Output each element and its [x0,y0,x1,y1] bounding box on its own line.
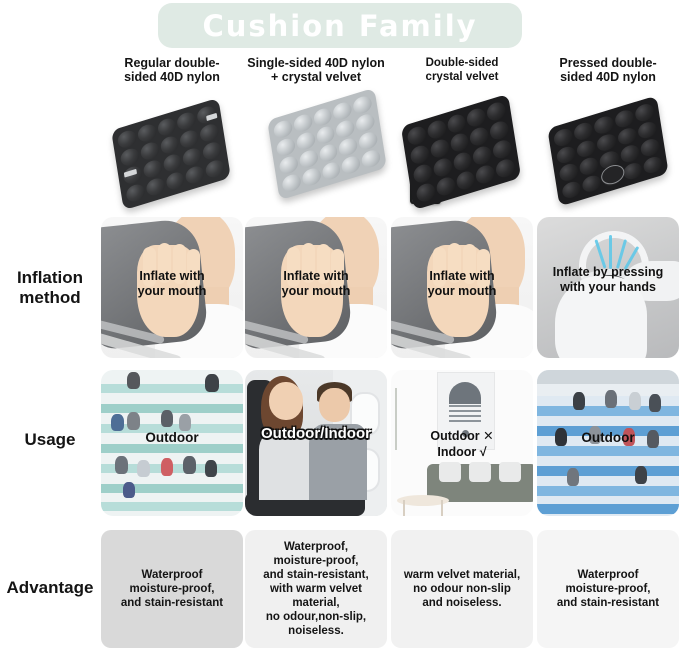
column-header-1-line2: sided 40D nylon [101,70,243,84]
column-header-3-line1: Double-sided [391,56,533,70]
usage-caption-1: Outdoor [101,430,243,445]
column-header-4-line1: Pressed double- [537,56,679,70]
usage-caption-3-line2: Indoor √ [391,444,533,460]
spectator [573,392,585,410]
spectator [649,394,661,412]
spectator [127,412,140,430]
advantage-cell-3: warm velvet material, no odour non-slip … [391,530,533,648]
title-banner: Cushion Family [158,3,522,48]
stripe-decor [449,405,481,425]
stadium-roof [537,370,679,384]
inflation-cell-3: Inflate with your mouth [391,217,533,358]
spectator [567,468,579,486]
row-label-inflation-method: Inflation method [0,268,100,308]
page-title: Cushion Family [202,9,477,43]
spectator [635,466,647,484]
cushion-image-4 [537,98,679,210]
advantage-text-1: Waterproof moisture-proof, and stain-res… [121,568,223,610]
sofa-cushion [469,462,491,482]
cushion-gray-velvet-icon [267,88,387,201]
column-header-4: Pressed double- sided 40D nylon [537,56,679,92]
row-label-usage: Usage [0,430,100,450]
cushion-image-3 [391,98,533,210]
spectator [161,458,173,476]
infographic-sheet: Cushion Family Regular double- sided 40D… [0,0,679,670]
spectator [179,414,191,431]
cushion-dark-charcoal-icon [111,98,231,211]
usage-caption-3: Outdoor ✕ Indoor √ [391,428,533,460]
cushion-image-2 [245,98,387,210]
row-label-inflation-line2: method [0,288,100,308]
bubble-grid [406,100,515,204]
usage-caption-2: Outdoor/Indoor [245,426,387,441]
spectator [123,482,135,498]
advantage-text-2: Waterproof, moisture-proof, and stain-re… [263,540,368,638]
row-label-advantage: Advantage [0,578,100,598]
column-header-2: Single-sided 40D nylon + crystal velvet [240,56,392,92]
spectator [137,460,150,477]
product-image-cell-2 [245,98,387,210]
inflation-cell-1: Inflate with your mouth [101,217,243,358]
cushion-black-icon [401,94,521,211]
usage-caption-4: Outdoor [537,430,679,445]
air-ray-icon [609,235,612,269]
inflation-caption-3: Inflate with your mouth [391,269,533,299]
spectator [127,372,140,389]
spectator [605,390,617,408]
column-header-2-line2: + crystal velvet [240,70,392,84]
column-header-1-line1: Regular double- [101,56,243,70]
usage-cell-3: Outdoor ✕ Indoor √ [391,370,533,516]
usage-cell-1: Outdoor [101,370,243,516]
bubble-grid [273,94,382,194]
column-header-4-line2: sided 40D nylon [537,70,679,84]
usage-caption-3-line1: Outdoor ✕ [391,428,533,444]
spectator [205,374,219,392]
spectator [111,414,124,431]
product-image-cell-1 [101,98,243,210]
inflation-caption-2: Inflate with your mouth [245,269,387,299]
spectator [115,456,128,474]
column-header-1: Regular double- sided 40D nylon [101,56,243,92]
passenger-head [269,382,303,420]
row-label-inflation-line1: Inflation [0,268,100,288]
spectator [629,392,641,410]
product-image-cell-3 [391,98,533,210]
sofa-cushion [439,462,461,482]
advantage-cell-2: Waterproof, moisture-proof, and stain-re… [245,530,387,648]
advantage-cell-4: Waterproof moisture-proof, and stain-res… [537,530,679,648]
advantage-text-3: warm velvet material, no odour non-slip … [404,568,520,610]
column-header-3-line2: crystal velvet [391,70,533,84]
spectator [161,410,173,427]
bubble-grid [553,102,663,200]
advantage-cell-1: Waterproof moisture-proof, and stain-res… [101,530,243,648]
advantage-text-4: Waterproof moisture-proof, and stain-res… [557,568,659,610]
cushion-image-1 [101,98,243,210]
spectator [183,456,196,474]
cushion-black-pump-icon [547,95,668,206]
scene-airplane-cabin [245,370,387,516]
column-header-2-line1: Single-sided 40D nylon [240,56,392,70]
spectator [205,460,217,477]
inflation-cell-2: Inflate with your mouth [245,217,387,358]
inflation-cell-4: Inflate by pressing with your hands [537,217,679,358]
inflation-caption-4: Inflate by pressing with your hands [537,265,679,295]
usage-cell-2: Outdoor/Indoor [245,370,387,516]
usage-cell-4: Outdoor [537,370,679,516]
sofa-cushion [499,462,521,482]
column-header-3: Double-sided crystal velvet [391,56,533,92]
passenger-head [319,388,350,422]
inflation-caption-1: Inflate with your mouth [101,269,243,299]
product-image-cell-4 [537,98,679,210]
